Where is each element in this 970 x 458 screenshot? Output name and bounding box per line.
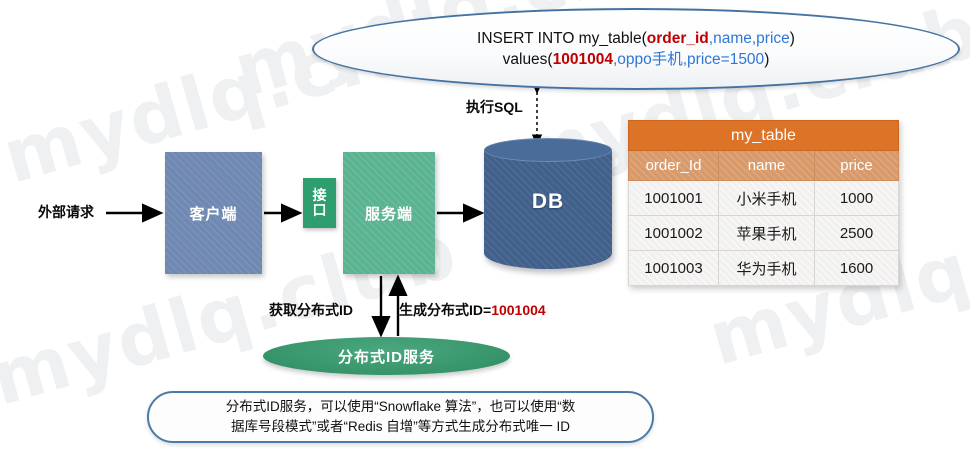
- sql-values-prefix: values(: [503, 51, 553, 68]
- footnote-line-1: 分布式ID服务，可以使用“Snowflake 算法”，也可以使用“数: [226, 397, 576, 417]
- cell-order-id: 1001003: [629, 251, 719, 286]
- table-header-row: order_Id name price: [629, 151, 899, 181]
- sql-column-price: price: [756, 30, 790, 47]
- interface-label-char-2: 口: [312, 203, 327, 218]
- database-node: DB: [484, 138, 612, 280]
- my-table: my_table order_Id name price 1001001 小米手…: [628, 120, 899, 286]
- generate-distributed-id-label: 生成分布式ID=1001004: [399, 300, 546, 320]
- cell-price: 1600: [815, 251, 899, 286]
- server-node-label: 服务端: [365, 203, 413, 224]
- generate-id-value: 1001004: [491, 302, 546, 318]
- footnote-text: 分布式ID服务，可以使用“Snowflake 算法”，也可以使用“数 据库号段模…: [212, 397, 590, 437]
- client-node: 客户端: [165, 152, 262, 274]
- footnote-callout: 分布式ID服务，可以使用“Snowflake 算法”，也可以使用“数 据库号段模…: [147, 391, 654, 443]
- get-distributed-id-label: 获取分布式ID: [269, 300, 353, 320]
- cell-price: 1000: [815, 181, 899, 216]
- table-title: my_table: [629, 121, 899, 151]
- sql-column-name: name: [713, 30, 752, 47]
- table-row: 1001002 苹果手机 2500: [629, 216, 899, 251]
- interface-node-label: 接 口: [312, 188, 327, 218]
- sql-value-name: oppo手机: [617, 51, 682, 68]
- client-node-label: 客户端: [189, 203, 237, 224]
- sql-line-1: INSERT INTO my_table(order_id,name,price…: [477, 28, 795, 49]
- column-header-order-id: order_Id: [629, 151, 719, 181]
- footnote-line-2: 据库号段模式”或者“Redis 自增”等方式生成分布式唯一 ID: [226, 417, 576, 437]
- sql-value-price: price=1500: [687, 51, 764, 68]
- interface-node: 接 口: [303, 178, 336, 228]
- generate-id-prefix: 生成分布式ID=: [399, 302, 491, 318]
- external-request-label: 外部请求: [38, 202, 94, 222]
- sql-insert-prefix: INSERT INTO my_table(: [477, 30, 647, 47]
- sql-statement-bubble: INSERT INTO my_table(order_id,name,price…: [312, 8, 960, 90]
- column-header-name: name: [719, 151, 815, 181]
- cell-order-id: 1001002: [629, 216, 719, 251]
- sql-line-2: values(1001004,oppo手机,price=1500): [477, 49, 795, 70]
- column-header-price: price: [815, 151, 899, 181]
- table-row: 1001001 小米手机 1000: [629, 181, 899, 216]
- sql-value-order-id: 1001004: [553, 51, 613, 68]
- table-row: 1001003 华为手机 1600: [629, 251, 899, 286]
- distributed-id-service-label: 分布式ID服务: [338, 346, 435, 367]
- interface-label-char-1: 接: [312, 188, 327, 203]
- sql-column-order-id: order_id: [647, 30, 709, 47]
- sql-paren-close: ): [764, 51, 769, 68]
- cell-name: 苹果手机: [719, 216, 815, 251]
- database-cylinder-top: [484, 138, 612, 162]
- my-table-body: my_table order_Id name price 1001001 小米手…: [629, 121, 899, 286]
- sql-statement-text: INSERT INTO my_table(order_id,name,price…: [477, 28, 795, 70]
- sql-paren-close: ): [790, 30, 795, 47]
- diagram-canvas: mydlq.club mydlq.club mydlq.club mydlq.c…: [0, 0, 970, 458]
- database-node-label: DB: [484, 190, 612, 214]
- cell-name: 华为手机: [719, 251, 815, 286]
- distributed-id-service-node: 分布式ID服务: [263, 337, 510, 375]
- execute-sql-label: 执行SQL: [466, 97, 523, 117]
- cell-order-id: 1001001: [629, 181, 719, 216]
- server-node: 服务端: [343, 152, 435, 274]
- cell-name: 小米手机: [719, 181, 815, 216]
- cell-price: 2500: [815, 216, 899, 251]
- table-title-row: my_table: [629, 121, 899, 151]
